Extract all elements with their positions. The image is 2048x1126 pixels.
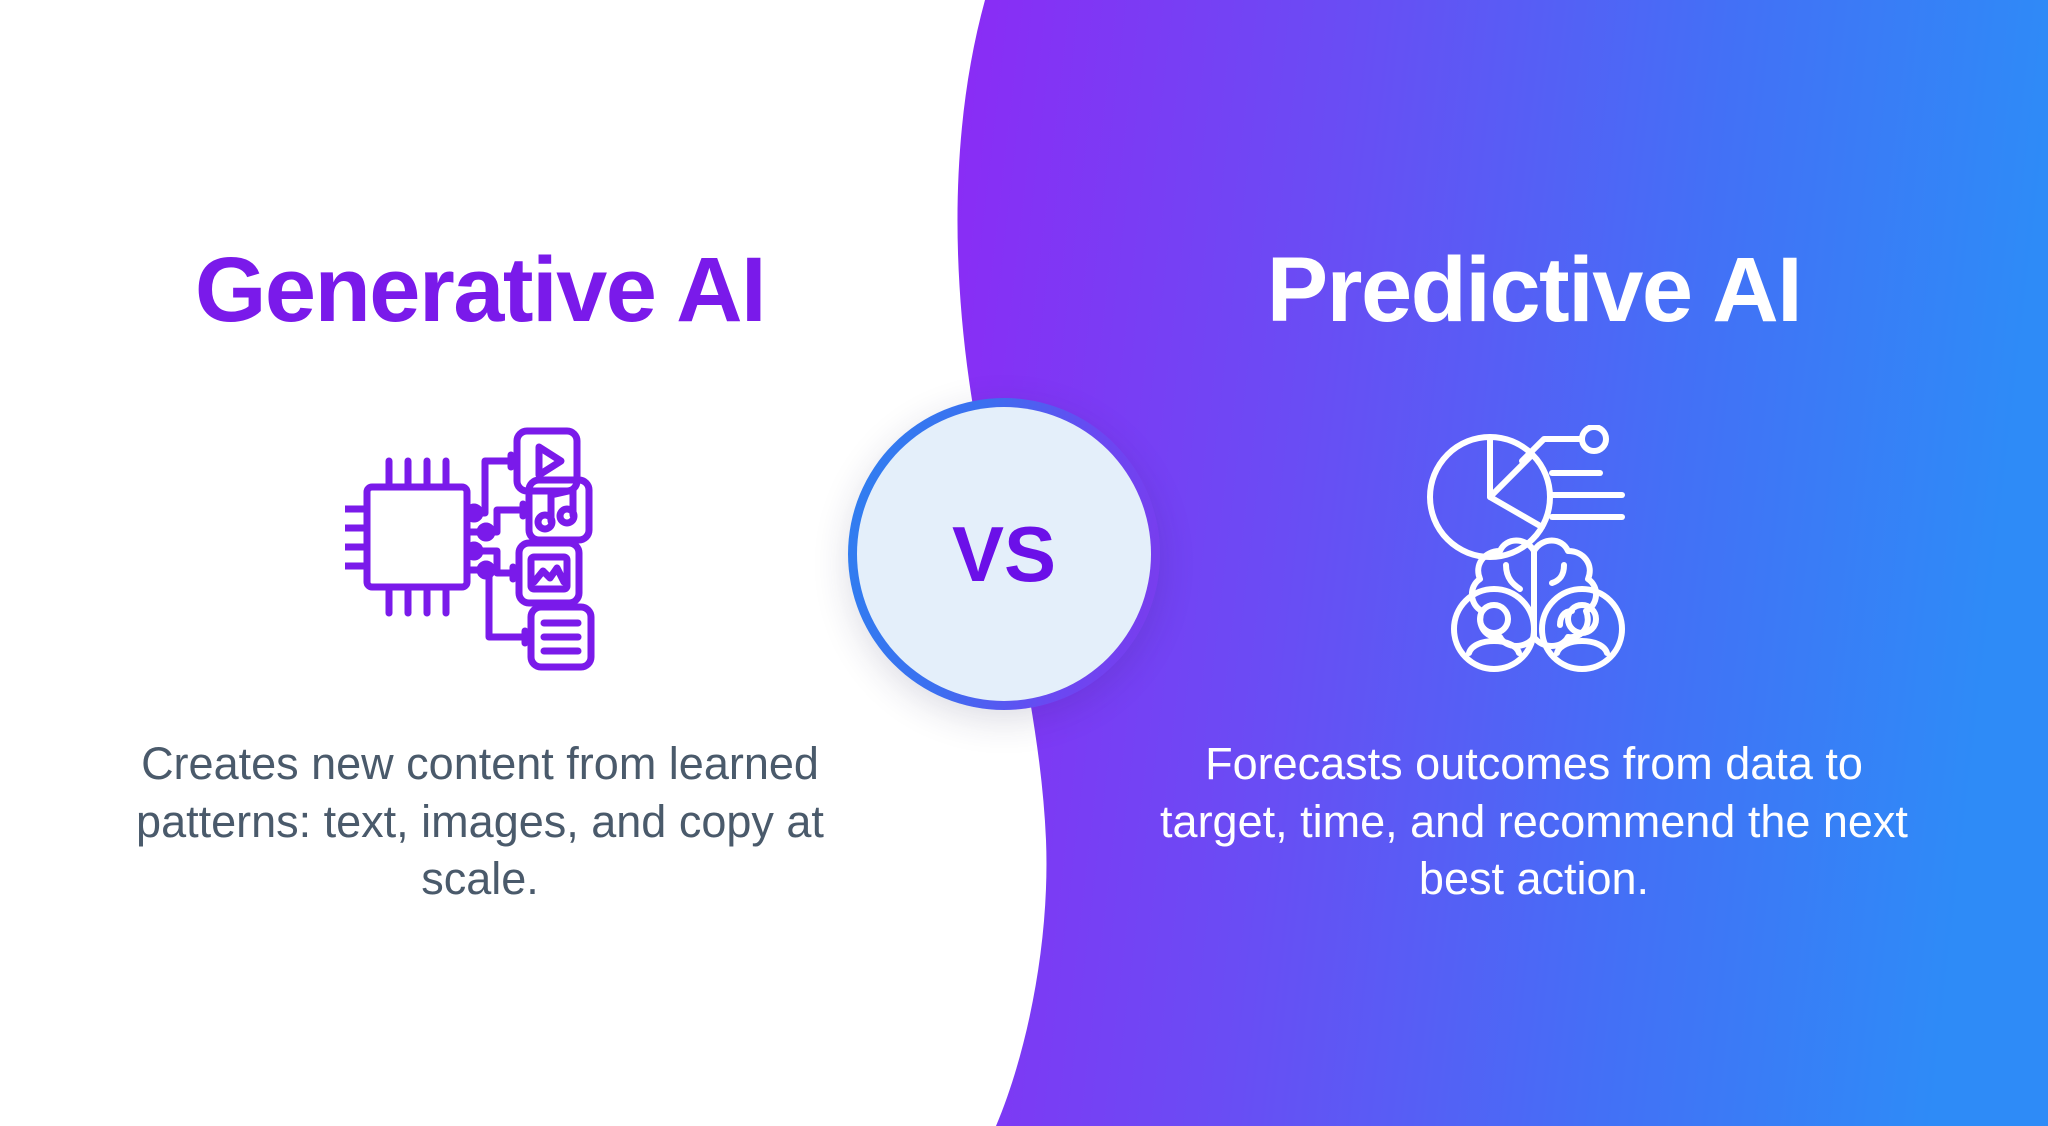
- predictive-ai-description: Forecasts outcomes from data to target, …: [1139, 735, 1929, 908]
- generative-ai-column: Generative AI: [0, 0, 960, 1126]
- predictive-ai-column: Predictive AI: [1020, 0, 2048, 1126]
- generative-ai-description: Creates new content from learned pattern…: [100, 735, 860, 908]
- predictive-ai-title: Predictive AI: [1020, 244, 2048, 336]
- versus-badge: VS: [848, 398, 1160, 710]
- brain-analytics-audience-icon: [1020, 420, 2048, 680]
- chip-multimedia-outputs-icon: [0, 420, 960, 680]
- versus-label: VS: [952, 515, 1056, 593]
- versus-badge-inner: VS: [857, 407, 1151, 701]
- infographic-canvas: Generative AI: [0, 0, 2048, 1126]
- generative-ai-title: Generative AI: [0, 244, 960, 336]
